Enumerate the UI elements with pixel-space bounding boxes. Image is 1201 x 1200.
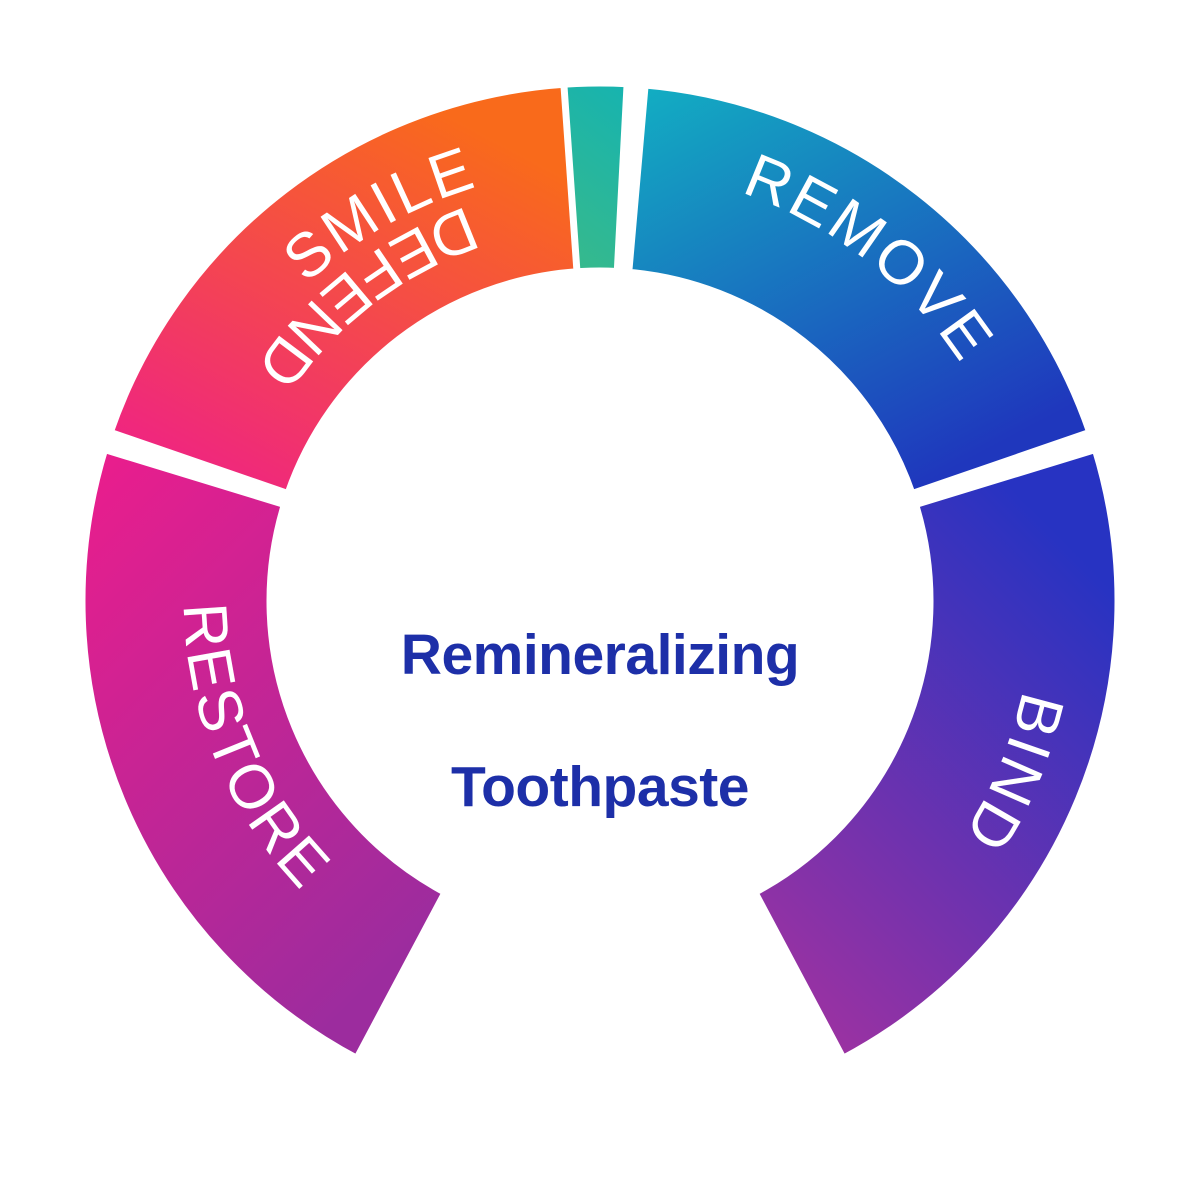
center-title: Remineralizing Toothpaste [300, 556, 900, 887]
segment-remove[interactable] [629, 85, 1090, 494]
center-title-line-1: Remineralizing [300, 622, 900, 688]
remineralizing-toothpaste-diagram: SMILE REMOVE BIND RESTORE DEFEND Reminer… [0, 0, 1201, 1200]
center-title-line-2: Toothpaste [300, 754, 900, 820]
